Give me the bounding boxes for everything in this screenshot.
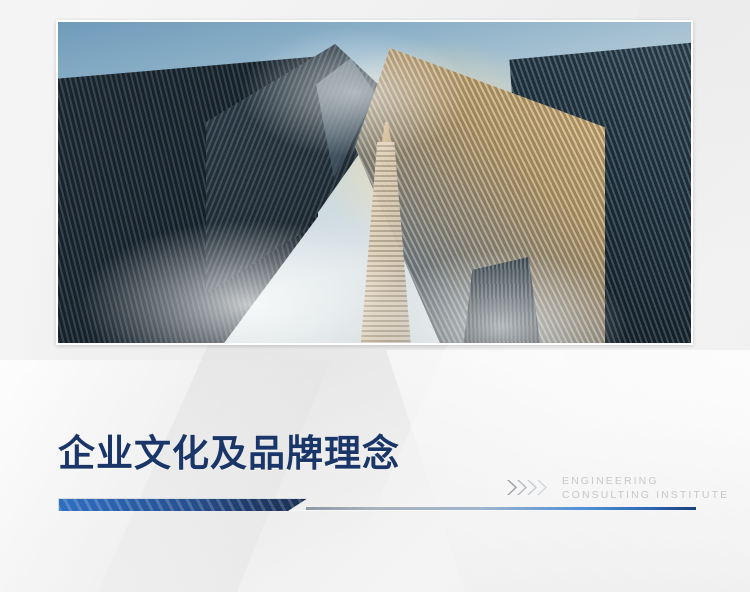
- title-divider: [58, 498, 696, 516]
- hero-image-frame: [56, 20, 693, 345]
- background-facet-a: [0, 360, 331, 592]
- building-small-rear: [463, 257, 541, 343]
- hero-image-skyscrapers: [58, 22, 691, 343]
- divider-thin-line: [306, 507, 696, 510]
- chevron-right-icon-4: [537, 479, 550, 496]
- background-facet-c: [386, 350, 750, 592]
- page-title: 企业文化及品牌理念: [58, 433, 400, 474]
- divider-thick-bar: [58, 498, 308, 511]
- slide-canvas: 企业文化及品牌理念 ENGINEERING CONSULTING INSTITU…: [0, 0, 750, 592]
- english-subtitle-line-1: ENGINEERING: [562, 474, 729, 488]
- chevron-group: [507, 478, 547, 496]
